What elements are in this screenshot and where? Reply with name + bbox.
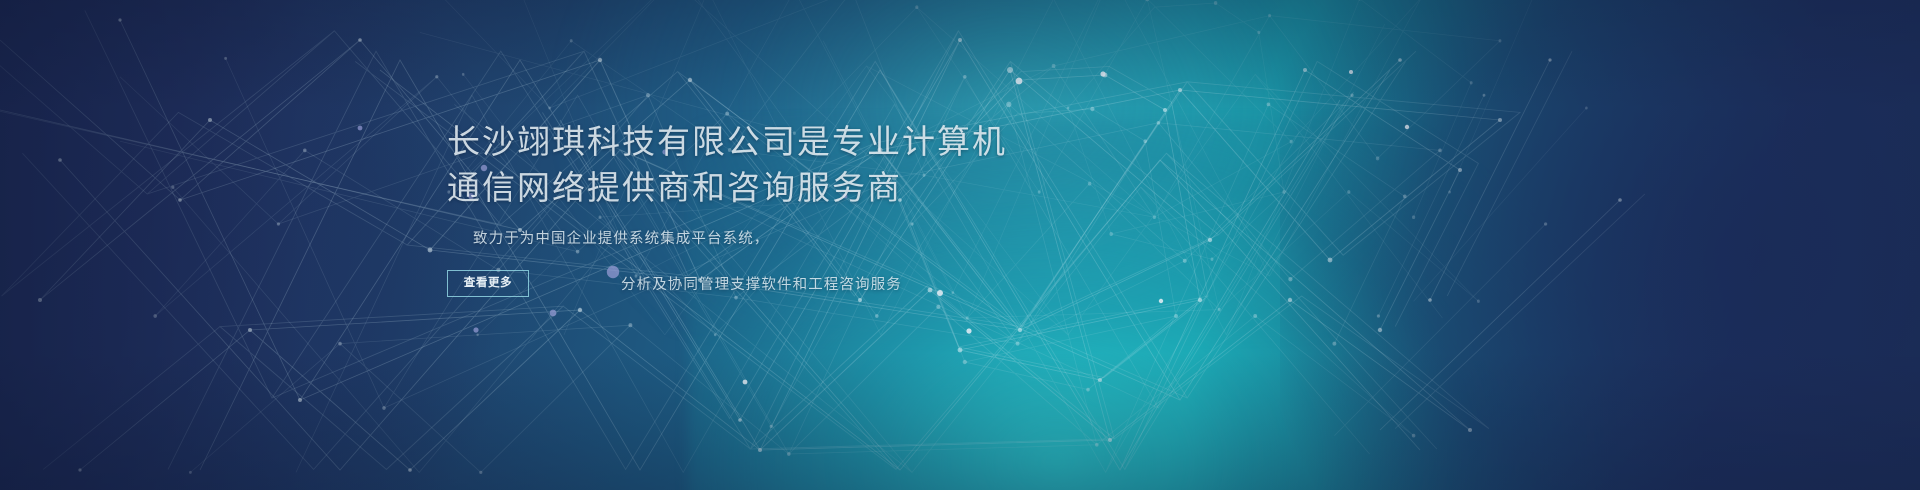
subtitle-line-1: 致力于为中国企业提供系统集成平台系统， — [473, 228, 1267, 250]
view-more-button[interactable]: 查看更多 — [447, 270, 529, 297]
headline-line-1: 长沙翊琪科技有限公司是专业计算机 — [447, 120, 1267, 164]
hero-banner: 长沙翊琪科技有限公司是专业计算机 通信网络提供商和咨询服务商 致力于为中国企业提… — [0, 0, 1920, 490]
headline-line-2: 通信网络提供商和咨询服务商 — [447, 166, 1267, 210]
subtitle-line-2: 分析及协同管理支撑软件和工程咨询服务 — [621, 273, 902, 294]
cta-row: 查看更多 分析及协同管理支撑软件和工程咨询服务 — [447, 270, 1267, 297]
hero-content: 长沙翊琪科技有限公司是专业计算机 通信网络提供商和咨询服务商 致力于为中国企业提… — [447, 120, 1267, 297]
